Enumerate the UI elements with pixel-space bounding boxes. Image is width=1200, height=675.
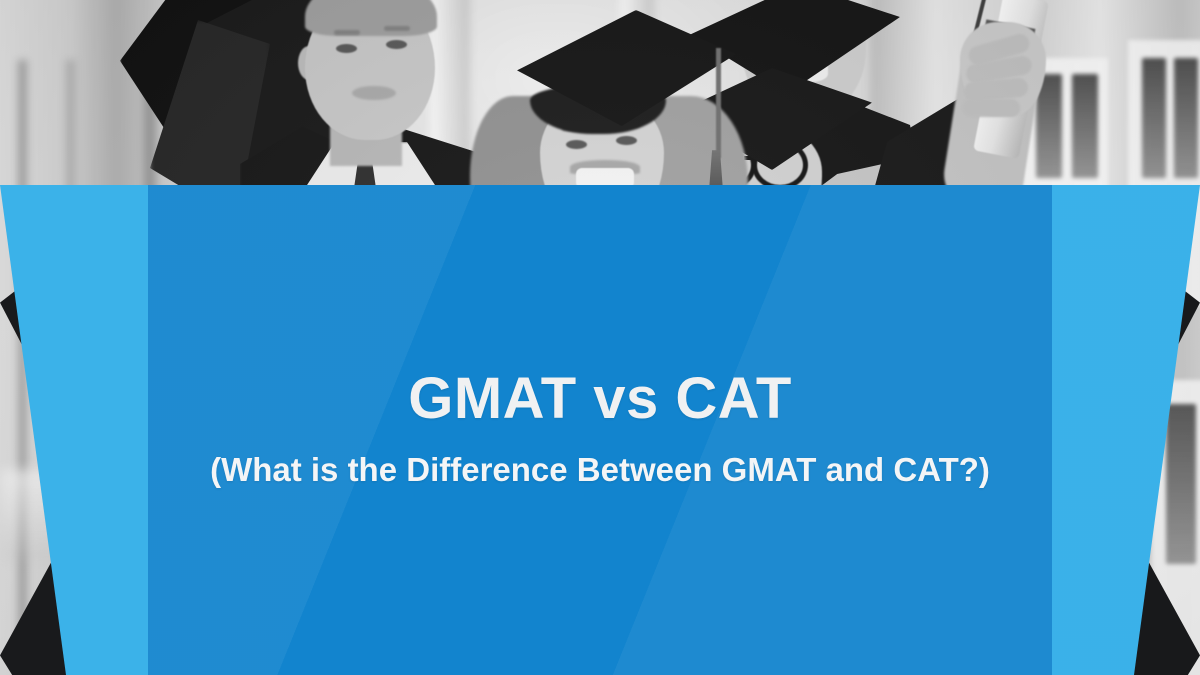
page-title: GMAT vs CAT: [408, 369, 792, 430]
page-subtitle: (What is the Difference Between GMAT and…: [210, 448, 990, 492]
banner-wing-left: [0, 185, 150, 675]
banner-graphic: GMAT vs CAT (What is the Difference Betw…: [0, 0, 1200, 675]
banner-text-block: GMAT vs CAT (What is the Difference Betw…: [150, 185, 1050, 675]
banner-wing-right: [1050, 185, 1200, 675]
blue-banner: GMAT vs CAT (What is the Difference Betw…: [0, 185, 1200, 675]
